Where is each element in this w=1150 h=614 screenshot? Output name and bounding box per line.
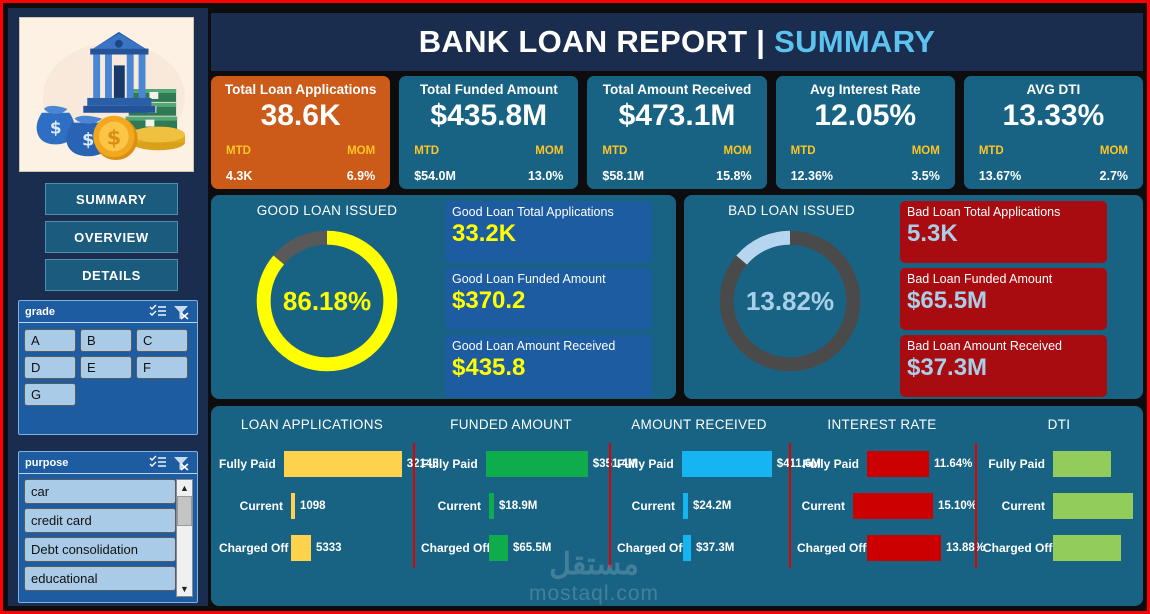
bar-category-label: Current — [797, 499, 853, 513]
bad-loan-amount-received-card[interactable]: Bad Loan Amount Received $37.3M — [900, 335, 1107, 397]
page-title-separator: | — [747, 24, 774, 59]
chart-title: AMOUNT RECEIVED — [609, 417, 789, 432]
good-loan-metrics: Good Loan Total Applications 33.2K Good … — [445, 201, 652, 397]
page-title-main: BANK LOAN REPORT — [419, 24, 748, 59]
metric-label: Good Loan Amount Received — [452, 340, 645, 354]
bar[interactable] — [489, 535, 508, 561]
kpi-mtd-label: MTD — [226, 145, 251, 157]
bar-value-label: $65.5M — [508, 542, 550, 554]
metric-value: 33.2K — [452, 221, 645, 248]
purpose-scrollbar[interactable]: ▲ ▼ — [176, 479, 193, 597]
kpi-value: $435.8M — [411, 99, 566, 133]
grade-options-list: A B C D E F G — [19, 323, 197, 412]
bar-category-label: Current — [983, 499, 1053, 513]
clear-filter-icon[interactable] — [171, 304, 191, 320]
bar-track: $18.9M — [489, 493, 536, 519]
kpi-sub-values: 12.36% 3.5% — [788, 169, 943, 183]
bad-loan-percent: 13.82% — [714, 225, 866, 377]
grade-option[interactable]: F — [136, 356, 188, 379]
nav-button-overview[interactable]: OVERVIEW — [45, 221, 178, 253]
grade-option[interactable]: A — [24, 329, 76, 352]
bar-track: 5333 — [291, 535, 342, 561]
kpi-mtd-value: 4.3K — [226, 169, 252, 183]
kpi-mtd-label: MTD — [791, 145, 816, 157]
bar-track: 11.64% — [867, 451, 971, 477]
page-title: BANK LOAN REPORT | SUMMARY — [419, 24, 936, 60]
bar-category-label: Current — [219, 499, 291, 513]
purpose-option[interactable]: credit card — [24, 508, 176, 533]
bad-loan-funded-amount-card[interactable]: Bad Loan Funded Amount $65.5M — [900, 268, 1107, 330]
bar-rows: Fully PaidCurrentCharged Off — [975, 450, 1143, 562]
bar-rows: Fully Paid$351.4MCurrent$18.9MCharged Of… — [413, 450, 609, 562]
checklist-icon[interactable] — [148, 455, 168, 471]
bar-row[interactable]: Charged Off$65.5M — [421, 534, 609, 562]
bar[interactable] — [867, 535, 941, 561]
bar-track: $37.3M — [683, 535, 733, 561]
bar-value-label: 5333 — [311, 542, 342, 554]
bar-category-label: Fully Paid — [421, 457, 486, 471]
kpi-mtd-value: 13.67% — [979, 169, 1021, 183]
bar-rows: Fully Paid32145Current1098Charged Off533… — [211, 450, 413, 562]
dashboard-frame: $ $ $ SUMMAR — [3, 3, 1147, 611]
kpi-mom-value: 6.9% — [347, 169, 376, 183]
good-loan-donut: 86.18% — [251, 225, 403, 377]
kpi-card-total-funded-amount[interactable]: Total Funded Amount $435.8M MTD MOM $54.… — [399, 76, 578, 189]
purpose-filter-title: purpose — [25, 457, 145, 469]
bar-category-label: Charged Off — [983, 541, 1053, 555]
bar-category-label: Charged Off — [219, 541, 291, 555]
kpi-mtd-label: MTD — [979, 145, 1004, 157]
metric-value: $370.2 — [452, 288, 645, 315]
good-loan-panel: GOOD LOAN ISSUED 86.18% Good Loan Total … — [211, 195, 676, 399]
bar-row[interactable]: Charged Off — [983, 534, 1143, 562]
bar-category-label: Charged Off — [617, 541, 683, 555]
bar-category-label: Fully Paid — [797, 457, 867, 471]
kpi-mom-value: 13.0% — [528, 169, 563, 183]
kpi-sub-values: 4.3K 6.9% — [223, 169, 378, 183]
chart-funded-amount: FUNDED AMOUNTFully Paid$351.4MCurrent$18… — [413, 406, 609, 606]
bar-row[interactable]: Current — [983, 492, 1143, 520]
bar-category-label: Charged Off — [797, 541, 867, 555]
chart-title: FUNDED AMOUNT — [413, 417, 609, 432]
kpi-title: Avg Interest Rate — [788, 83, 943, 98]
bar-category-label: Fully Paid — [617, 457, 682, 471]
page-header: BANK LOAN REPORT | SUMMARY — [211, 13, 1143, 71]
kpi-mom-label: MOM — [1100, 145, 1128, 157]
bar-row[interactable]: Fully Paid11.64% — [797, 450, 975, 478]
chart-amount-received: AMOUNT RECEIVEDFully Paid$411.6MCurrent$… — [609, 406, 789, 606]
bad-loan-donut: 13.82% — [714, 225, 866, 377]
clear-filter-icon[interactable] — [171, 455, 191, 471]
grade-option[interactable]: G — [24, 383, 76, 406]
kpi-mom-value: 2.7% — [1100, 169, 1129, 183]
kpi-title: AVG DTI — [976, 83, 1131, 98]
bar-value-label: 1098 — [295, 500, 326, 512]
purpose-option[interactable]: Debt consolidation — [24, 537, 176, 562]
chart-dti: DTIFully PaidCurrentCharged Off — [975, 406, 1143, 606]
metric-value: 5.3K — [907, 221, 1100, 248]
kpi-title: Total Loan Applications — [223, 83, 378, 98]
grade-option[interactable]: E — [80, 356, 132, 379]
kpi-row: Total Loan Applications 38.6K MTD MOM 4.… — [211, 76, 1143, 189]
kpi-mtd-label: MTD — [602, 145, 627, 157]
kpi-mom-label: MOM — [535, 145, 563, 157]
chart-title: DTI — [975, 417, 1143, 432]
kpi-card-total-amount-received[interactable]: Total Amount Received $473.1M MTD MOM $5… — [587, 76, 766, 189]
bar-rows: Fully Paid$411.6MCurrent$24.2MCharged Of… — [609, 450, 789, 562]
metric-value: $37.3M — [907, 355, 1100, 382]
bar-category-label: Current — [617, 499, 683, 513]
metric-label: Bad Loan Funded Amount — [907, 273, 1100, 287]
bar-row[interactable]: Current1098 — [219, 492, 413, 520]
bar-category-label: Charged Off — [421, 541, 489, 555]
sidebar: $ $ $ SUMMAR — [8, 8, 208, 606]
bad-loan-metrics: Bad Loan Total Applications 5.3K Bad Loa… — [900, 201, 1107, 397]
chart-title: INTEREST RATE — [789, 417, 975, 432]
purpose-filter-panel: purpose car credit card Debt consolida — [18, 451, 198, 603]
metric-value: $435.8 — [452, 355, 645, 382]
bar-value-label: $37.3M — [691, 542, 733, 554]
bar-track: 1098 — [291, 493, 326, 519]
bar-row[interactable]: Fully Paid32145 — [219, 450, 413, 478]
bank-illustration-icon: $ $ $ — [20, 18, 193, 171]
bad-loan-title: BAD LOAN ISSUED — [684, 203, 899, 218]
bar-value-label: 15.10% — [933, 500, 975, 512]
kpi-sub-labels: MTD MOM — [976, 145, 1131, 157]
kpi-sub-values: 13.67% 2.7% — [976, 169, 1131, 183]
kpi-mtd-value: $58.1M — [602, 169, 644, 183]
grade-option[interactable]: B — [80, 329, 132, 352]
bad-loan-panel: BAD LOAN ISSUED 13.82% Bad Loan Total Ap… — [684, 195, 1143, 399]
bar[interactable] — [853, 493, 933, 519]
chevron-up-icon[interactable]: ▲ — [177, 480, 192, 495]
bar-category-label: Fully Paid — [219, 457, 284, 471]
bar[interactable] — [284, 451, 402, 477]
kpi-sub-values: $58.1M 15.8% — [599, 169, 754, 183]
bar-value-label: $24.2M — [688, 500, 730, 512]
kpi-mom-label: MOM — [347, 145, 375, 157]
purpose-option[interactable]: educational — [24, 566, 176, 591]
kpi-mtd-label: MTD — [414, 145, 439, 157]
bar-track: 13.88% — [867, 535, 983, 561]
chart-loan-applications: LOAN APPLICATIONSFully Paid32145Current1… — [211, 406, 413, 606]
bar-rows: Fully Paid11.64%Current15.10%Charged Off… — [789, 450, 975, 562]
bar-category-label: Fully Paid — [983, 457, 1053, 471]
bar-row[interactable]: Fully Paid — [983, 450, 1143, 478]
grade-option[interactable]: D — [24, 356, 76, 379]
metric-label: Bad Loan Amount Received — [907, 340, 1100, 354]
chart-title: LOAN APPLICATIONS — [211, 417, 413, 432]
kpi-card-avg-dti[interactable]: AVG DTI 13.33% MTD MOM 13.67% 2.7% — [964, 76, 1143, 189]
bad-loan-total-applications-card[interactable]: Bad Loan Total Applications 5.3K — [900, 201, 1107, 263]
bar-value-label: $18.9M — [494, 500, 536, 512]
bar[interactable] — [486, 451, 588, 477]
bar-category-label: Current — [421, 499, 489, 513]
checklist-icon[interactable] — [148, 304, 168, 320]
grade-filter-title: grade — [25, 306, 145, 318]
bar-row[interactable]: Current15.10% — [797, 492, 975, 520]
svg-text:$: $ — [50, 117, 62, 137]
metric-label: Good Loan Total Applications — [452, 206, 645, 220]
bar-row[interactable]: Charged Off$37.3M — [617, 534, 789, 562]
bar[interactable] — [1053, 451, 1111, 477]
chevron-down-icon[interactable]: ▼ — [177, 581, 192, 596]
metric-label: Bad Loan Total Applications — [907, 206, 1100, 220]
nav-button-summary[interactable]: SUMMARY — [45, 183, 178, 215]
kpi-sub-labels: MTD MOM — [223, 145, 378, 157]
bar-row[interactable]: Fully Paid$351.4M — [421, 450, 609, 478]
kpi-sub-labels: MTD MOM — [599, 145, 754, 157]
kpi-value: 38.6K — [223, 99, 378, 133]
kpi-value: 13.33% — [976, 99, 1131, 133]
kpi-value: 12.05% — [788, 99, 943, 133]
svg-text:$: $ — [107, 125, 121, 149]
kpi-sub-labels: MTD MOM — [411, 145, 566, 157]
kpi-title: Total Funded Amount — [411, 83, 566, 98]
bar-track: $24.2M — [683, 493, 730, 519]
good-loan-percent: 86.18% — [251, 225, 403, 377]
svg-text:$: $ — [82, 130, 94, 150]
kpi-sub-labels: MTD MOM — [788, 145, 943, 157]
kpi-mtd-value: 12.36% — [791, 169, 833, 183]
page-title-accent: SUMMARY — [774, 24, 935, 59]
bar[interactable] — [291, 535, 311, 561]
chart-interest-rate: INTEREST RATEFully Paid11.64%Current15.1… — [789, 406, 975, 606]
kpi-mtd-value: $54.0M — [414, 169, 456, 183]
kpi-title: Total Amount Received — [599, 83, 754, 98]
nav-button-details[interactable]: DETAILS — [45, 259, 178, 291]
bank-illustration: $ $ $ — [19, 17, 194, 172]
bar-track: 15.10% — [853, 493, 975, 519]
bar-track: $65.5M — [489, 535, 550, 561]
grade-filter-header: grade — [19, 301, 197, 323]
kpi-mom-label: MOM — [912, 145, 940, 157]
metric-value: $65.5M — [907, 288, 1100, 315]
kpi-card-total-loan-applications[interactable]: Total Loan Applications 38.6K MTD MOM 4.… — [211, 76, 390, 189]
scrollbar-thumb[interactable] — [177, 496, 192, 526]
good-loan-title: GOOD LOAN ISSUED — [211, 203, 443, 218]
bar-row[interactable]: Charged Off5333 — [219, 534, 413, 562]
bar-row[interactable]: Charged Off13.88% — [797, 534, 975, 562]
bar-track — [1053, 535, 1121, 561]
purpose-filter-header: purpose — [19, 452, 197, 474]
kpi-value: $473.1M — [599, 99, 754, 133]
kpi-card-avg-interest-rate[interactable]: Avg Interest Rate 12.05% MTD MOM 12.36% … — [776, 76, 955, 189]
bar[interactable] — [1053, 493, 1133, 519]
grade-option[interactable]: C — [136, 329, 188, 352]
grade-filter-panel: grade A B C D E — [18, 300, 198, 435]
bar-row[interactable]: Current$24.2M — [617, 492, 789, 520]
bar-row[interactable]: Current$18.9M — [421, 492, 609, 520]
bar-track — [1053, 451, 1111, 477]
kpi-sub-values: $54.0M 13.0% — [411, 169, 566, 183]
good-loan-total-applications-card[interactable]: Good Loan Total Applications 33.2K — [445, 201, 652, 263]
kpi-mom-value: 15.8% — [716, 169, 751, 183]
bar[interactable] — [682, 451, 772, 477]
bar[interactable] — [683, 535, 691, 561]
metric-label: Good Loan Funded Amount — [452, 273, 645, 287]
good-loan-amount-received-card[interactable]: Good Loan Amount Received $435.8 — [445, 335, 652, 397]
kpi-mom-label: MOM — [724, 145, 752, 157]
status-breakdown-charts: LOAN APPLICATIONSFully Paid32145Current1… — [211, 406, 1143, 606]
bar-track — [1053, 493, 1133, 519]
purpose-option[interactable]: car — [24, 479, 176, 504]
bar[interactable] — [867, 451, 929, 477]
bar-row[interactable]: Fully Paid$411.6M — [617, 450, 789, 478]
kpi-mom-value: 3.5% — [911, 169, 940, 183]
purpose-options-list: car credit card Debt consolidation educa… — [19, 474, 197, 600]
good-loan-funded-amount-card[interactable]: Good Loan Funded Amount $370.2 — [445, 268, 652, 330]
bar[interactable] — [1053, 535, 1121, 561]
bar-value-label: 11.64% — [929, 458, 971, 470]
